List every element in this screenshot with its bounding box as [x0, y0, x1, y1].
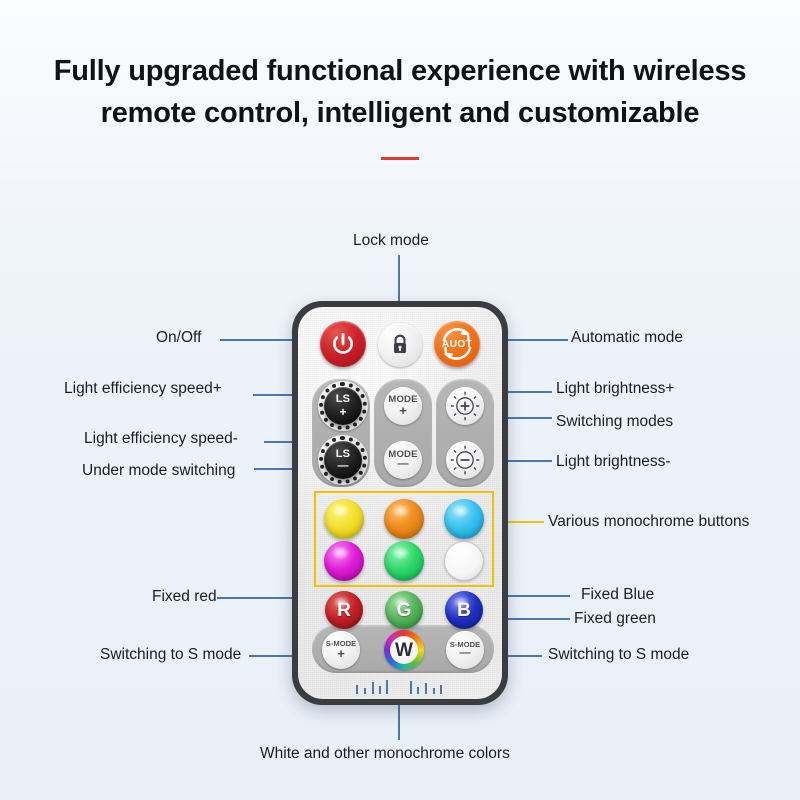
- callout-switching-modes: Switching modes: [556, 413, 673, 431]
- mode-plus-button[interactable]: MODE +: [384, 387, 422, 425]
- ls-minus-label: LS: [336, 449, 350, 460]
- fixed-red-label: R: [337, 601, 351, 620]
- automatic-mode-button[interactable]: AUOT: [434, 321, 480, 367]
- ls-plus-label: LS: [336, 394, 350, 405]
- callout-light-efficiency-speed-minus: Light efficiency speed-: [84, 430, 238, 448]
- light-brightness-minus-button[interactable]: [446, 441, 484, 479]
- light-brightness-plus-button[interactable]: [446, 387, 484, 425]
- callout-light-efficiency-speed-plus: Light efficiency speed+: [64, 380, 222, 398]
- s-mode-minus-button[interactable]: S-MODE —: [446, 631, 484, 669]
- page-title-line-2: remote control, intelligent and customiz…: [0, 92, 800, 134]
- callout-on-off: On/Off: [156, 329, 201, 347]
- power-button[interactable]: [320, 321, 366, 367]
- remote-faceplate: AUOT LS + MODE +: [298, 307, 502, 699]
- callout-fixed-green: Fixed green: [574, 610, 656, 628]
- mode-minus-button[interactable]: MODE —: [384, 441, 422, 479]
- callout-switching-to-s-mode-right: Switching to S mode: [548, 646, 689, 664]
- callout-lock-mode: Lock mode: [353, 232, 429, 250]
- fixed-green-label: G: [397, 601, 412, 620]
- mode-plus-sublabel: +: [399, 404, 407, 417]
- callout-various-monochrome-buttons: Various monochrome buttons: [548, 513, 749, 531]
- fixed-blue-label: B: [457, 601, 471, 620]
- callout-fixed-blue: Fixed Blue: [581, 586, 654, 604]
- ls-minus-cap: LS —: [324, 441, 362, 479]
- monochrome-button-green[interactable]: [384, 541, 424, 581]
- ls-plus-cap: LS +: [324, 387, 362, 425]
- fixed-green-button[interactable]: G: [385, 591, 423, 629]
- remote-control: AUOT LS + MODE +: [292, 301, 508, 705]
- callout-white-and-other-monochrome-colors: White and other monochrome colors: [260, 745, 510, 763]
- power-icon: [330, 331, 356, 357]
- white-color-button[interactable]: W: [384, 630, 424, 670]
- lock-button[interactable]: [378, 323, 422, 367]
- s-mode-minus-sublabel: —: [460, 648, 471, 659]
- monochrome-button-yellow[interactable]: [324, 499, 364, 539]
- monochrome-button-white[interactable]: [444, 541, 484, 581]
- mode-minus-sublabel: —: [398, 459, 409, 470]
- page-title: Fully upgraded functional experience wit…: [0, 50, 800, 134]
- ls-plus-sublabel: +: [339, 406, 346, 418]
- title-underline-rule: [381, 157, 419, 160]
- sun-plus-icon: [448, 389, 482, 423]
- callout-fixed-red: Fixed red: [152, 588, 217, 606]
- automatic-mode-label: AUOT: [442, 339, 473, 350]
- callout-automatic-mode: Automatic mode: [571, 329, 683, 347]
- callout-light-brightness-plus: Light brightness+: [556, 380, 674, 398]
- callout-switching-to-s-mode-left: Switching to S mode: [100, 646, 241, 664]
- white-color-label: W: [395, 641, 413, 660]
- callout-light-brightness-minus: Light brightness-: [556, 453, 671, 471]
- light-efficiency-speed-plus-button[interactable]: LS +: [324, 387, 362, 425]
- callout-under-mode-switching: Under mode switching: [82, 462, 235, 480]
- product-infographic: Fully upgraded functional experience wit…: [0, 0, 800, 800]
- lock-icon: [388, 332, 412, 358]
- fixed-red-button[interactable]: R: [325, 591, 363, 629]
- bottom-signal-ticks: [298, 679, 502, 695]
- ls-minus-sublabel: —: [338, 461, 349, 472]
- page-title-line-1: Fully upgraded functional experience wit…: [0, 50, 800, 92]
- sun-minus-icon: [448, 443, 482, 477]
- monochrome-button-magenta[interactable]: [324, 541, 364, 581]
- monochrome-button-cyan[interactable]: [444, 499, 484, 539]
- light-efficiency-speed-minus-button[interactable]: LS —: [324, 441, 362, 479]
- fixed-blue-button[interactable]: B: [445, 591, 483, 629]
- s-mode-plus-sublabel: +: [337, 647, 345, 660]
- s-mode-plus-button[interactable]: S-MODE +: [322, 631, 360, 669]
- monochrome-button-orange[interactable]: [384, 499, 424, 539]
